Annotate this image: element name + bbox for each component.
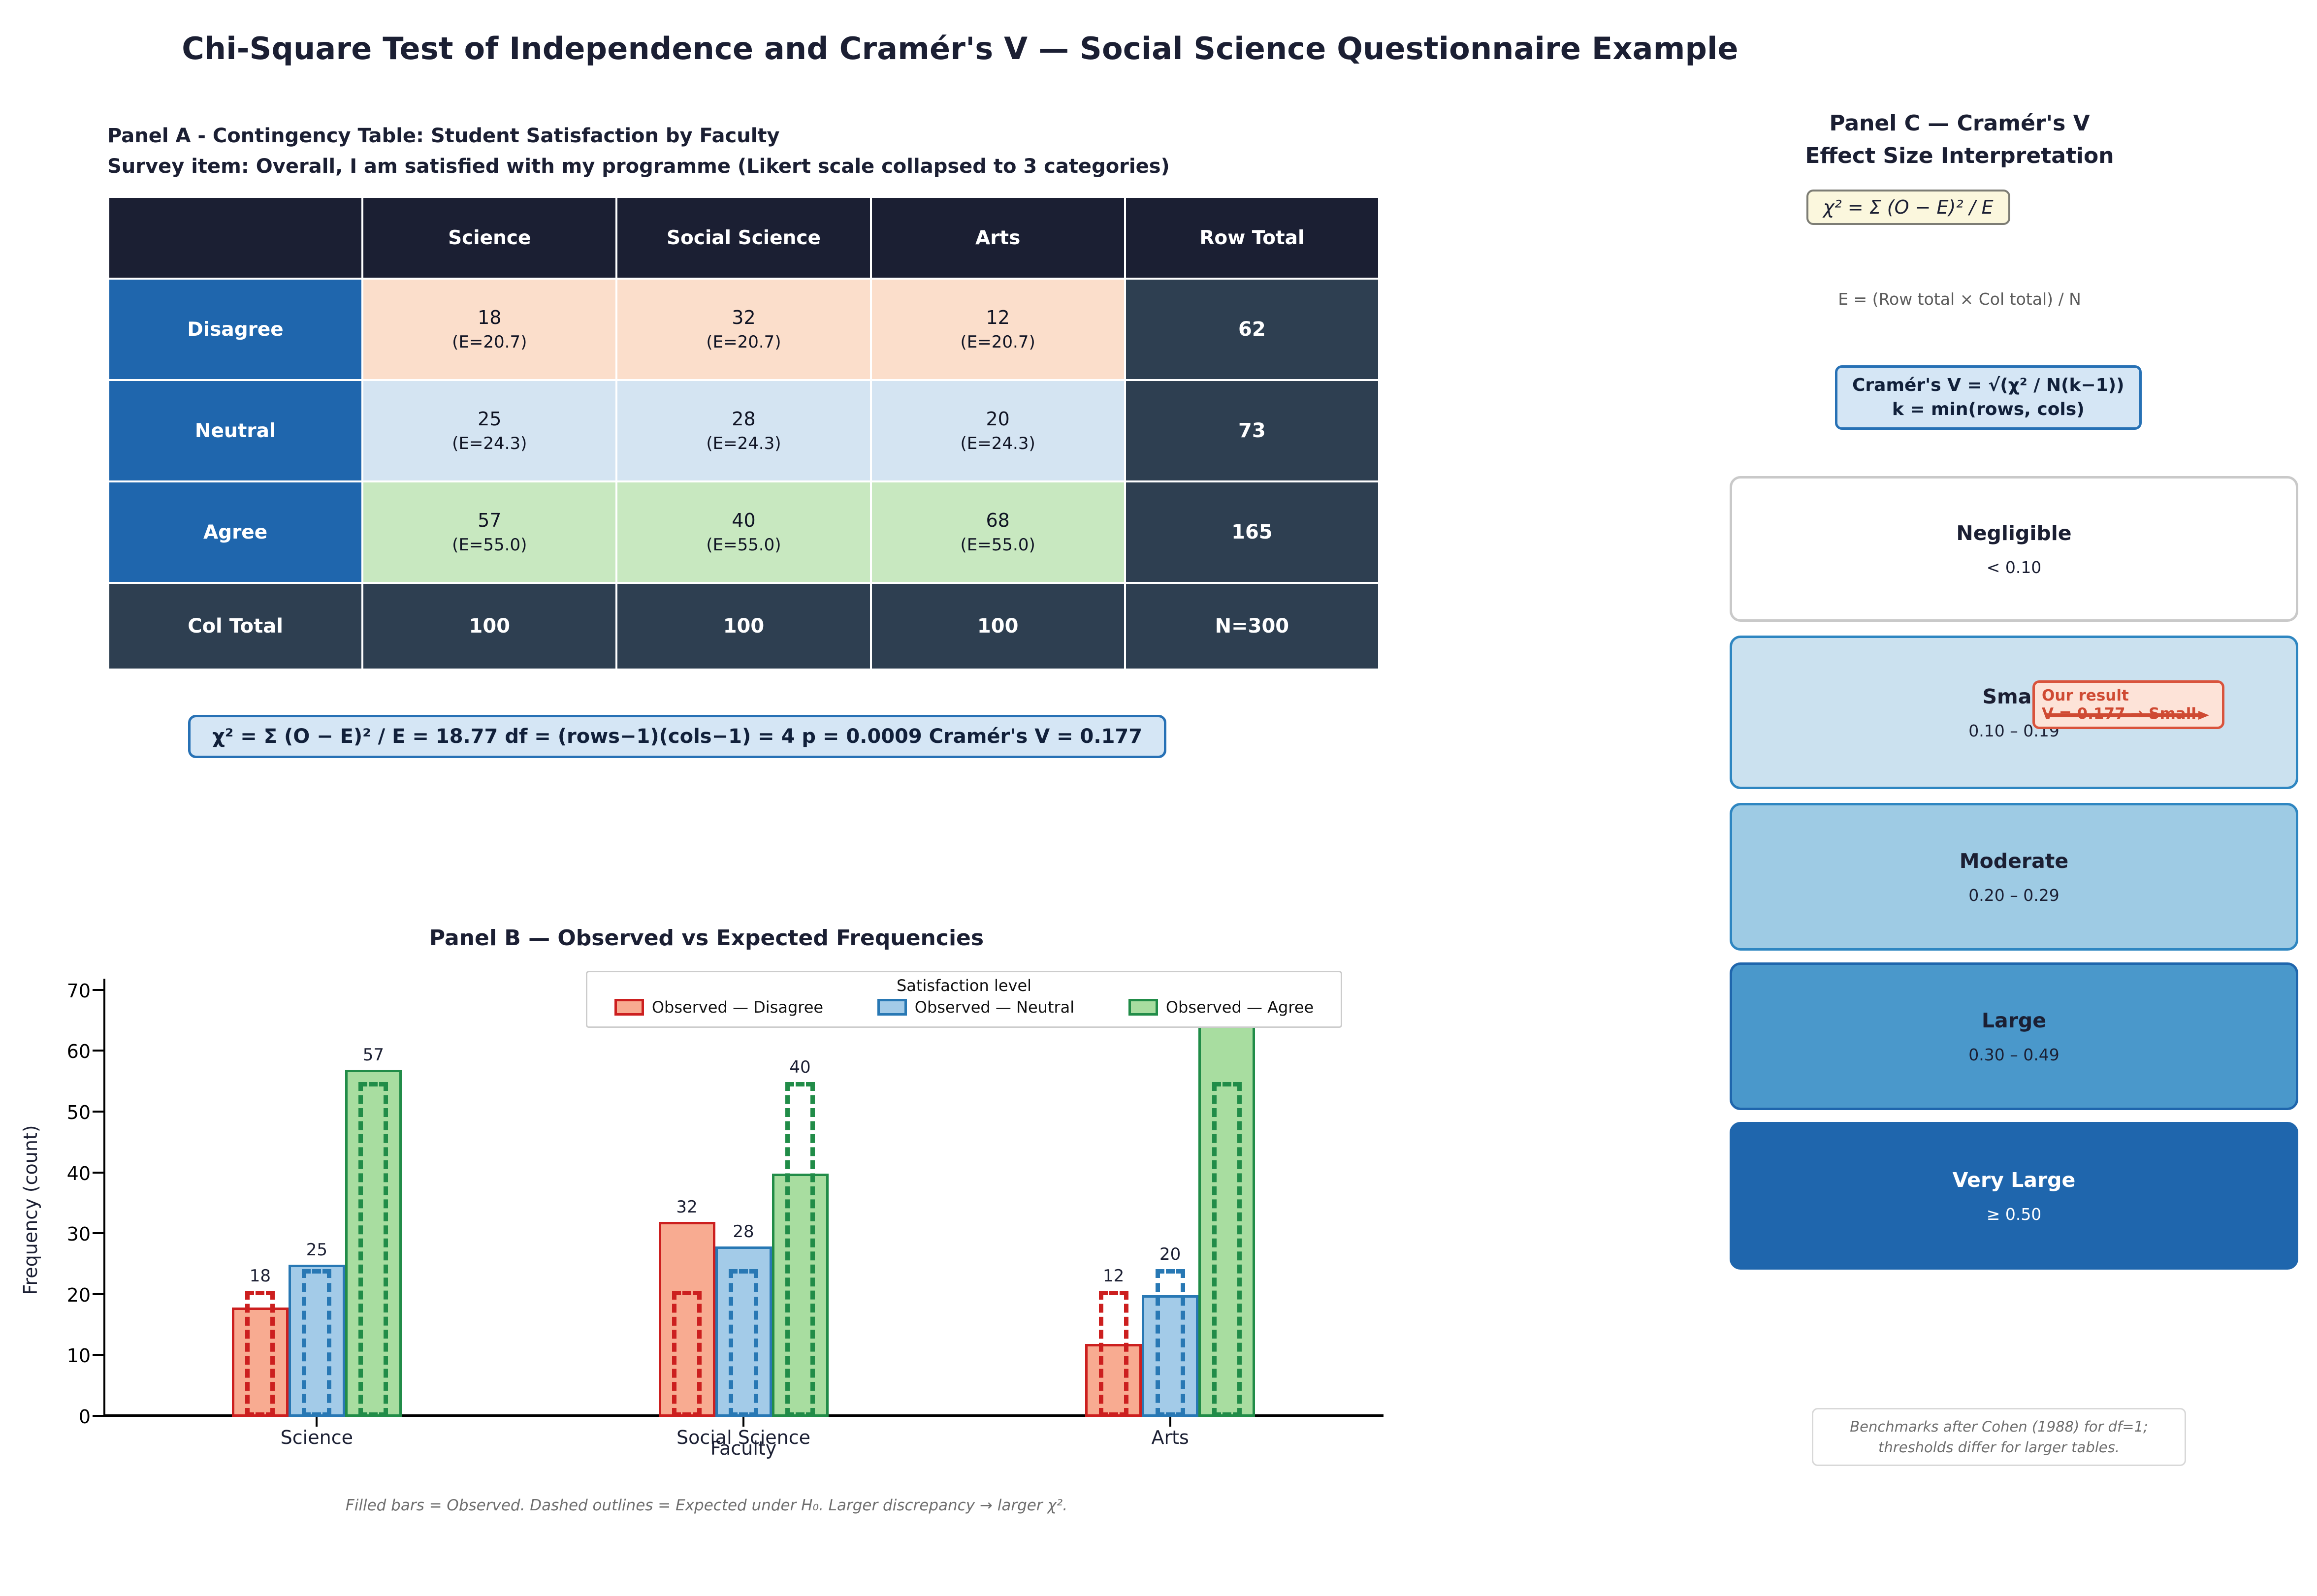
column-header: Arts xyxy=(872,198,1124,278)
legend-item: Observed — Neutral xyxy=(877,998,1074,1017)
table-cell: 12(E=20.7) xyxy=(872,280,1124,379)
legend-swatch xyxy=(614,999,644,1016)
col-total-cell: 100 xyxy=(617,584,869,669)
column-header: Social Science xyxy=(617,198,869,278)
panel-b-note: Filled bars = Observed. Dashed outlines … xyxy=(0,1497,1413,1514)
cramers-v-formula-box: Cramér's V = √(χ² / N(k−1)) k = min(rows… xyxy=(1835,365,2142,430)
table-cell: 28(E=24.3) xyxy=(617,381,869,480)
result-arrow-icon xyxy=(2047,710,2209,720)
contingency-table: ScienceSocial ScienceArtsRow TotalDisagr… xyxy=(107,196,1380,670)
panel-a-heading-line1: Panel A - Contingency Table: Student Sat… xyxy=(107,121,1170,151)
band-range: < 0.10 xyxy=(1987,558,2042,577)
observed-value: 25 xyxy=(364,406,615,432)
bar-expected-outline xyxy=(302,1269,331,1417)
x-axis-tick-mark xyxy=(742,1417,744,1427)
legend-swatch xyxy=(1128,999,1158,1016)
row-header: Neutral xyxy=(109,381,361,480)
bar-value-label: 12 xyxy=(1103,1266,1124,1286)
observed-value: 12 xyxy=(872,305,1124,330)
effect-size-band-negligible[interactable]: Negligible< 0.10 xyxy=(1730,476,2298,622)
y-axis-tick-mark xyxy=(93,1415,103,1417)
legend-swatch xyxy=(877,999,907,1016)
expected-value: (E=24.3) xyxy=(872,432,1124,455)
expected-formula-text: E = (Row total × Col total) / N xyxy=(1713,289,2206,309)
bar-expected-outline xyxy=(1212,1082,1242,1417)
legend-item: Observed — Agree xyxy=(1128,998,1314,1017)
bar-value-label: 57 xyxy=(363,1045,384,1065)
y-axis-tick-label: 60 xyxy=(67,1041,91,1062)
y-axis-tick-label: 70 xyxy=(67,980,91,1002)
band-range: 0.20 – 0.29 xyxy=(1968,886,2059,905)
legend-items: Observed — DisagreeObserved — NeutralObs… xyxy=(587,998,1341,1017)
bar-expected-outline xyxy=(1156,1269,1185,1417)
table-row: Disagree18(E=20.7)32(E=20.7)12(E=20.7)62 xyxy=(109,280,1378,379)
table-cell: 68(E=55.0) xyxy=(872,482,1124,582)
cohen-note-line1: Benchmarks after Cohen (1988) for df=1; xyxy=(1818,1416,2180,1437)
chart-legend: Satisfaction level Observed — DisagreeOb… xyxy=(586,971,1342,1028)
y-axis-tick-label: 10 xyxy=(67,1345,91,1367)
bar-value-label: 25 xyxy=(306,1240,327,1260)
row-total-cell: 62 xyxy=(1126,280,1378,379)
table-corner-cell xyxy=(109,198,361,278)
y-axis-tick-label: 0 xyxy=(79,1406,91,1428)
col-total-row: Col Total100100100N=300 xyxy=(109,584,1378,669)
page-title: Chi-Square Test of Independence and Cram… xyxy=(0,31,1920,66)
bar-expected-outline xyxy=(672,1291,702,1417)
y-axis-line xyxy=(103,979,105,1417)
column-header: Row Total xyxy=(1126,198,1378,278)
chi-square-formula-box: χ² = Σ (O − E)² / E xyxy=(1806,190,2010,225)
legend-label: Observed — Neutral xyxy=(915,998,1074,1017)
effect-size-band-large[interactable]: Large0.30 – 0.49 xyxy=(1730,962,2298,1110)
bar-value-label: 32 xyxy=(676,1197,697,1217)
panel-c-heading: Panel C — Cramér's V Effect Size Interpr… xyxy=(1713,107,2206,172)
effect-size-band-very-large[interactable]: Very Large≥ 0.50 xyxy=(1730,1122,2298,1270)
bar-expected-outline xyxy=(785,1082,815,1417)
y-axis-tick-label: 50 xyxy=(67,1102,91,1123)
effect-size-band-moderate[interactable]: Moderate0.20 – 0.29 xyxy=(1730,803,2298,951)
expected-value: (E=20.7) xyxy=(618,331,869,354)
expected-value: (E=24.3) xyxy=(618,432,869,455)
table-cell: 57(E=55.0) xyxy=(363,482,615,582)
our-result-callout: Our result V = 0.177 → Small xyxy=(2032,680,2224,729)
band-label: Large xyxy=(1982,1009,2046,1032)
x-axis-label: Faculty xyxy=(103,1437,1384,1459)
row-total-cell: 73 xyxy=(1126,381,1378,480)
y-axis-tick-mark xyxy=(93,1111,103,1113)
panel-c-heading-line2: Effect Size Interpretation xyxy=(1713,140,2206,172)
expected-value: (E=55.0) xyxy=(618,534,869,557)
expected-value: (E=20.7) xyxy=(364,331,615,354)
y-axis-tick-mark xyxy=(93,1050,103,1052)
row-header: Disagree xyxy=(109,280,361,379)
y-axis-tick-label: 20 xyxy=(67,1284,91,1306)
grand-total-cell: N=300 xyxy=(1126,584,1378,669)
table-cell: 20(E=24.3) xyxy=(872,381,1124,480)
table-cell: 25(E=24.3) xyxy=(363,381,615,480)
our-result-label: Our result xyxy=(2042,687,2215,705)
observed-value: 18 xyxy=(364,305,615,330)
y-axis-tick-label: 40 xyxy=(67,1163,91,1184)
observed-value: 32 xyxy=(618,305,869,330)
bar-chart-plot-area: 010203040506070Science182557Social Scien… xyxy=(103,979,1384,1417)
observed-value: 68 xyxy=(872,508,1124,533)
observed-value: 57 xyxy=(364,508,615,533)
observed-value: 20 xyxy=(872,406,1124,432)
y-axis-tick-label: 30 xyxy=(67,1223,91,1245)
y-axis-tick-mark xyxy=(93,1354,103,1356)
y-axis-tick-mark xyxy=(93,989,103,991)
row-header: Agree xyxy=(109,482,361,582)
y-axis-tick-mark xyxy=(93,1232,103,1234)
observed-value: 28 xyxy=(618,406,869,432)
legend-label: Observed — Agree xyxy=(1166,998,1314,1017)
bar-expected-outline xyxy=(1099,1291,1128,1417)
band-label: Moderate xyxy=(1960,849,2068,873)
legend-item: Observed — Disagree xyxy=(614,998,823,1017)
table-cell: 32(E=20.7) xyxy=(617,280,869,379)
panel-a-heading: Panel A - Contingency Table: Student Sat… xyxy=(107,121,1170,182)
bar-expected-outline xyxy=(245,1291,275,1417)
cramers-v-formula-line1: Cramér's V = √(χ² / N(k−1)) xyxy=(1852,374,2124,398)
x-axis-tick-mark xyxy=(316,1417,318,1427)
table-row: Agree57(E=55.0)40(E=55.0)68(E=55.0)165 xyxy=(109,482,1378,582)
expected-value: (E=55.0) xyxy=(872,534,1124,557)
band-range: ≥ 0.50 xyxy=(1987,1205,2042,1224)
panel-b-title: Panel B — Observed vs Expected Frequenci… xyxy=(0,926,1413,951)
y-axis-tick-mark xyxy=(93,1172,103,1174)
bar-value-label: 40 xyxy=(789,1057,810,1077)
y-axis-tick-mark xyxy=(93,1293,103,1295)
band-label: Very Large xyxy=(1953,1168,2076,1192)
band-range: 0.30 – 0.49 xyxy=(1968,1045,2059,1064)
y-axis-label: Frequency (count) xyxy=(20,1125,41,1295)
expected-value: (E=24.3) xyxy=(364,432,615,455)
band-label: Negligible xyxy=(1956,521,2071,545)
legend-label: Observed — Disagree xyxy=(652,998,823,1017)
bar-value-label: 20 xyxy=(1159,1245,1181,1264)
panel-a-heading-line2: Survey item: Overall, I am satisfied wit… xyxy=(107,151,1170,182)
panel-c-heading-line1: Panel C — Cramér's V xyxy=(1713,107,2206,140)
table-cell: 18(E=20.7) xyxy=(363,280,615,379)
col-total-label: Col Total xyxy=(109,584,361,669)
table-row: Neutral25(E=24.3)28(E=24.3)20(E=24.3)73 xyxy=(109,381,1378,480)
table-cell: 40(E=55.0) xyxy=(617,482,869,582)
expected-value: (E=55.0) xyxy=(364,534,615,557)
bar-value-label: 28 xyxy=(733,1222,754,1242)
col-total-cell: 100 xyxy=(363,584,615,669)
cohen-note-line2: thresholds differ for larger tables. xyxy=(1818,1437,2180,1458)
col-total-cell: 100 xyxy=(872,584,1124,669)
observed-value: 40 xyxy=(618,508,869,533)
x-axis-tick-mark xyxy=(1169,1417,1171,1427)
expected-value: (E=20.7) xyxy=(872,331,1124,354)
cramers-v-formula-line2: k = min(rows, cols) xyxy=(1852,398,2124,422)
bar-value-label: 18 xyxy=(250,1266,271,1286)
bar-expected-outline xyxy=(358,1082,388,1417)
table-header-row: ScienceSocial ScienceArtsRow Total xyxy=(109,198,1378,278)
chi-square-stats-box: χ² = Σ (O − E)² / E = 18.77 df = (rows−1… xyxy=(188,715,1166,758)
bar-expected-outline xyxy=(729,1269,758,1417)
cohen-benchmark-note: Benchmarks after Cohen (1988) for df=1; … xyxy=(1812,1408,2186,1466)
row-total-cell: 165 xyxy=(1126,482,1378,582)
figure-canvas: Chi-Square Test of Independence and Cram… xyxy=(0,0,2317,1596)
legend-title: Satisfaction level xyxy=(587,976,1341,995)
column-header: Science xyxy=(363,198,615,278)
